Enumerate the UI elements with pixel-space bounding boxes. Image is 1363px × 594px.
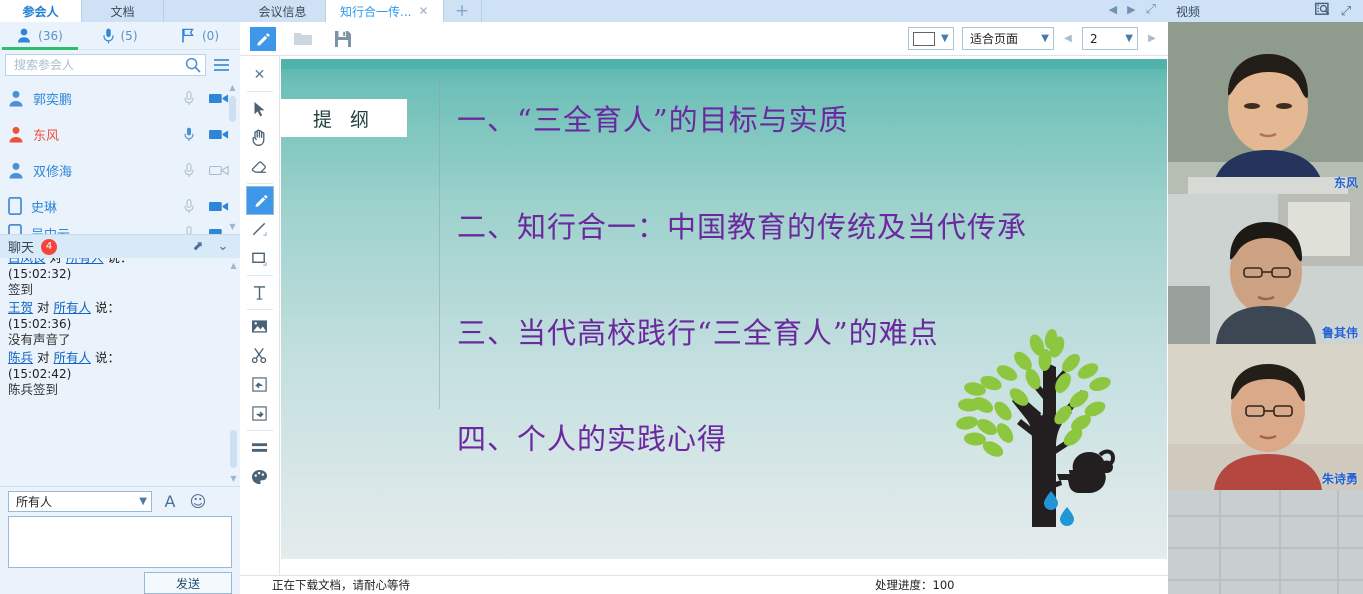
line-icon[interactable] bbox=[246, 215, 274, 244]
filter-all-participants[interactable]: (36) bbox=[0, 22, 80, 50]
page-select[interactable]: 2 ▼ bbox=[1082, 27, 1138, 50]
text-icon[interactable] bbox=[246, 278, 274, 307]
tab-participants-label: 参会人 bbox=[22, 3, 58, 20]
tree-illustration-icon bbox=[945, 327, 1145, 537]
video-panel: 视频 ⤢ 东风 bbox=[1168, 0, 1363, 594]
slide-divider bbox=[439, 79, 440, 409]
chat-toolbar: 所有人 ▼ A ☺ bbox=[0, 486, 240, 514]
color-swatch bbox=[913, 32, 935, 46]
list-item[interactable]: 吴中云 bbox=[0, 224, 240, 234]
next-arrow-icon[interactable]: ▶ bbox=[1127, 3, 1135, 16]
chat-recipient[interactable]: 所有人 bbox=[54, 350, 92, 365]
status-bar: 正在下载文档，请耐心等待 处理进度：100 bbox=[240, 575, 1168, 594]
participant-name: 郭奕鹏 bbox=[33, 89, 176, 108]
flag-icon bbox=[181, 28, 195, 43]
send-button-label: 发送 bbox=[176, 575, 200, 592]
participant-name: 双修海 bbox=[33, 161, 176, 180]
tab-documents[interactable]: 文档 bbox=[82, 0, 164, 22]
tab-documents-label: 文档 bbox=[110, 3, 134, 20]
chat-message: 陈兵 对 所有人 说： (15:02:42) 陈兵签到 bbox=[8, 350, 226, 398]
chat-verb-say: 说： bbox=[108, 258, 133, 265]
chat-verb-to: 对 bbox=[37, 350, 50, 365]
tab-meeting-info[interactable]: 会议信息 bbox=[240, 0, 326, 22]
chevron-down-icon[interactable]: ▼ bbox=[1041, 33, 1049, 44]
left-panel: 参会人 文档 (36) (5) bbox=[0, 0, 240, 594]
maximize-icon[interactable]: ⤢ bbox=[1337, 4, 1355, 19]
list-item[interactable]: 史琳 bbox=[0, 188, 240, 224]
participant-filter-row: (36) (5) (0) bbox=[0, 22, 240, 50]
chat-verb-to: 对 bbox=[37, 300, 50, 315]
zoom-fit-value: 适合页面 bbox=[970, 30, 1035, 47]
chat-message: 白凤良 对 所有人 说： (15:02:32) 签到 bbox=[8, 258, 226, 298]
slide-bullet-4: 四、个人的实践心得 bbox=[457, 416, 727, 458]
filter-all-count: (36) bbox=[38, 29, 63, 43]
palette-icon[interactable] bbox=[246, 462, 274, 491]
color-select[interactable]: ▼ bbox=[908, 27, 954, 50]
chevron-down-icon[interactable]: ▼ bbox=[139, 496, 147, 507]
mobile-device-icon bbox=[8, 197, 22, 215]
slide-bullet-2: 二、知行合一：中国教育的传统及当代传承 bbox=[457, 204, 1027, 246]
zoom-fit-select[interactable]: 适合页面 ▼ bbox=[962, 27, 1054, 50]
tabstrip-controls: ◀ ▶ ⤢ bbox=[1109, 0, 1168, 22]
chat-send-row: 发送 bbox=[0, 568, 240, 594]
slide-section-badge: 提 纲 bbox=[281, 99, 407, 137]
send-button[interactable]: 发送 bbox=[144, 572, 232, 594]
mic-status-icon[interactable] bbox=[176, 226, 202, 235]
tab-meeting-info-label: 会议信息 bbox=[258, 3, 306, 20]
meeting-app-window: 参会人 文档 (36) (5) bbox=[0, 0, 1363, 594]
close-icon[interactable]: ✕ bbox=[246, 60, 274, 89]
tab-document-file-label: 知行合一传... bbox=[340, 3, 411, 20]
mobile-device-icon bbox=[8, 224, 22, 234]
chat-recipient-select[interactable]: 所有人 ▼ bbox=[8, 491, 152, 512]
participant-name: 史琳 bbox=[31, 197, 176, 216]
slide-section-badge-label: 提 纲 bbox=[313, 105, 375, 132]
annotate-button[interactable] bbox=[250, 27, 276, 51]
close-icon[interactable]: ✕ bbox=[418, 4, 428, 18]
hand-icon[interactable] bbox=[246, 123, 274, 152]
document-area: 会议信息 知行合一传... ✕ + ◀ ▶ ⤢ bbox=[240, 0, 1168, 594]
filter-mic-count: (5) bbox=[121, 29, 138, 43]
chevron-down-icon[interactable]: ▼ bbox=[1125, 33, 1133, 44]
chevron-down-icon[interactable]: ⌄ bbox=[214, 239, 232, 254]
pen-icon[interactable] bbox=[246, 186, 274, 215]
list-view-icon[interactable] bbox=[212, 59, 234, 71]
chat-sender[interactable]: 陈兵 bbox=[8, 350, 33, 365]
chat-unread-badge: 4 bbox=[41, 239, 57, 255]
scroll-down-icon[interactable]: ▼ bbox=[227, 221, 238, 232]
chat-text: 没有声音了 bbox=[8, 332, 226, 348]
search-icon[interactable] bbox=[185, 57, 201, 73]
chat-verb-say: 说： bbox=[95, 300, 120, 315]
video-participant-name: 朱诗勇 bbox=[1322, 470, 1358, 487]
presentation-slide: 提 纲 一、“三全育人”的目标与实质 二、知行合一：中国教育的传统及当代传承 三… bbox=[281, 59, 1167, 559]
video-tile[interactable]: 朱诗勇 bbox=[1168, 344, 1363, 490]
scroll-up-icon[interactable]: ▲ bbox=[227, 82, 238, 93]
document-toolbar: ▼ 适合页面 ▼ ◀ 2 ▼ ▶ bbox=[240, 22, 1168, 56]
annotation-toolbar: ✕ bbox=[240, 56, 280, 575]
status-progress: 处理进度：100 bbox=[875, 577, 954, 593]
participant-name: 吴中云 bbox=[31, 224, 176, 234]
chat-recipient[interactable]: 所有人 bbox=[66, 258, 104, 265]
scroll-down-icon[interactable]: ▼ bbox=[228, 473, 239, 484]
document-main: ✕ bbox=[240, 56, 1168, 575]
search-row bbox=[0, 50, 240, 80]
eraser-icon[interactable] bbox=[246, 152, 274, 181]
status-message: 正在下载文档，请耐心等待 bbox=[272, 577, 410, 593]
chat-timestamp: (15:02:42) bbox=[8, 366, 226, 382]
left-tabstrip: 参会人 文档 bbox=[0, 0, 240, 22]
maximize-icon[interactable]: ⤢ bbox=[1146, 2, 1156, 17]
scissors-icon[interactable] bbox=[246, 341, 274, 370]
chat-text: 签到 bbox=[8, 282, 226, 298]
video-panel-header: 视频 ⤢ bbox=[1168, 0, 1363, 22]
open-folder-button[interactable] bbox=[290, 27, 316, 51]
slide-viewport[interactable]: 提 纲 一、“三全育人”的目标与实质 二、知行合一：中国教育的传统及当代传承 三… bbox=[280, 56, 1168, 575]
participant-scrollbar[interactable]: ▲ ▼ bbox=[227, 82, 238, 232]
prev-arrow-icon[interactable]: ◀ bbox=[1109, 3, 1117, 16]
add-tab-button[interactable]: + bbox=[444, 0, 482, 22]
scroll-thumb[interactable] bbox=[230, 430, 237, 468]
tab-participants[interactable]: 参会人 bbox=[0, 0, 82, 22]
expand-arrow-icon[interactable]: ⬈ bbox=[189, 239, 207, 254]
person-icon bbox=[8, 90, 24, 107]
person-icon bbox=[17, 28, 31, 43]
host-person-icon bbox=[8, 126, 24, 143]
filter-flag-count: (0) bbox=[202, 29, 219, 43]
filter-microphone[interactable]: (5) bbox=[80, 22, 160, 50]
chat-message-list: 白凤良 对 所有人 说： (15:02:32) 签到 王贺 对 所有人 说： (… bbox=[0, 258, 240, 486]
add-tab-label: + bbox=[455, 1, 469, 21]
participant-video-frame bbox=[1168, 194, 1363, 344]
chat-recipient-value: 所有人 bbox=[16, 493, 139, 510]
chat-verb-to: 对 bbox=[50, 258, 63, 265]
redo-icon[interactable] bbox=[246, 399, 274, 428]
chat-verb-say: 说： bbox=[95, 350, 120, 365]
emoji-icon[interactable]: ☺ bbox=[188, 492, 208, 511]
cursor-icon[interactable] bbox=[246, 94, 274, 123]
mic-status-icon[interactable] bbox=[176, 199, 202, 214]
chat-scrollbar[interactable]: ▲ ▼ bbox=[228, 260, 239, 484]
prev-page-icon[interactable]: ◀ bbox=[1062, 33, 1074, 44]
chat-header: 聊天 4 ⬈ ⌄ bbox=[0, 234, 240, 258]
tab-document-file[interactable]: 知行合一传... ✕ bbox=[326, 0, 444, 22]
save-icon bbox=[334, 30, 352, 48]
list-item[interactable]: 郭奕鹏 bbox=[0, 80, 240, 116]
mic-status-icon[interactable] bbox=[176, 127, 202, 142]
video-participant-name: 东风 bbox=[1334, 174, 1358, 191]
filter-raised-hand[interactable]: (0) bbox=[160, 22, 240, 50]
search-input[interactable] bbox=[14, 58, 185, 72]
microphone-icon bbox=[103, 28, 114, 44]
slide-top-band bbox=[281, 59, 1167, 69]
search-box[interactable] bbox=[5, 54, 206, 76]
chevron-down-icon[interactable]: ▼ bbox=[941, 33, 949, 44]
video-tile[interactable]: 鲁其伟 bbox=[1168, 194, 1363, 344]
chat-title: 聊天 bbox=[8, 237, 34, 256]
participant-video-frame bbox=[1168, 344, 1363, 490]
chat-timestamp: (15:02:36) bbox=[8, 316, 226, 332]
mic-status-icon[interactable] bbox=[176, 163, 202, 178]
participant-video-frame bbox=[1168, 490, 1363, 594]
page-number-value: 2 bbox=[1090, 32, 1119, 46]
lines-icon[interactable] bbox=[246, 433, 274, 462]
person-icon bbox=[8, 162, 24, 179]
document-tabstrip: 会议信息 知行合一传... ✕ + ◀ ▶ ⤢ bbox=[240, 0, 1168, 22]
rectangle-icon[interactable] bbox=[246, 244, 274, 273]
video-tile[interactable] bbox=[1168, 490, 1363, 594]
save-button[interactable] bbox=[330, 27, 356, 51]
scroll-thumb[interactable] bbox=[229, 96, 236, 122]
chat-input[interactable] bbox=[8, 516, 232, 568]
video-snapshot-icon[interactable] bbox=[1313, 2, 1331, 21]
video-participant-name: 鲁其伟 bbox=[1322, 324, 1358, 341]
font-style-icon[interactable]: A bbox=[160, 492, 180, 511]
list-item[interactable]: 东风 bbox=[0, 116, 240, 152]
chat-recipient[interactable]: 所有人 bbox=[54, 300, 92, 315]
scroll-up-icon[interactable]: ▲ bbox=[228, 260, 239, 271]
next-page-icon[interactable]: ▶ bbox=[1146, 33, 1158, 44]
chat-text: 陈兵签到 bbox=[8, 382, 226, 398]
mic-status-icon[interactable] bbox=[176, 91, 202, 106]
video-tile[interactable]: 东风 bbox=[1168, 22, 1363, 194]
undo-icon[interactable] bbox=[246, 370, 274, 399]
participant-video-frame bbox=[1168, 22, 1363, 194]
chat-timestamp: (15:02:32) bbox=[8, 266, 226, 282]
chat-message: 王贺 对 所有人 说： (15:02:36) 没有声音了 bbox=[8, 300, 226, 348]
slide-bullet-3: 三、当代高校践行“三全育人”的难点 bbox=[457, 310, 939, 352]
video-panel-title: 视频 bbox=[1176, 3, 1307, 20]
chat-sender[interactable]: 王贺 bbox=[8, 300, 33, 315]
pencil-icon bbox=[256, 31, 271, 46]
list-item[interactable]: 双修海 bbox=[0, 152, 240, 188]
chat-sender[interactable]: 白凤良 bbox=[8, 258, 46, 265]
participant-name: 东风 bbox=[33, 125, 176, 144]
image-icon[interactable] bbox=[246, 312, 274, 341]
participant-list: 郭奕鹏 东风 bbox=[0, 80, 240, 234]
slide-bullet-1: 一、“三全育人”的目标与实质 bbox=[457, 97, 849, 139]
folder-icon bbox=[293, 30, 313, 47]
